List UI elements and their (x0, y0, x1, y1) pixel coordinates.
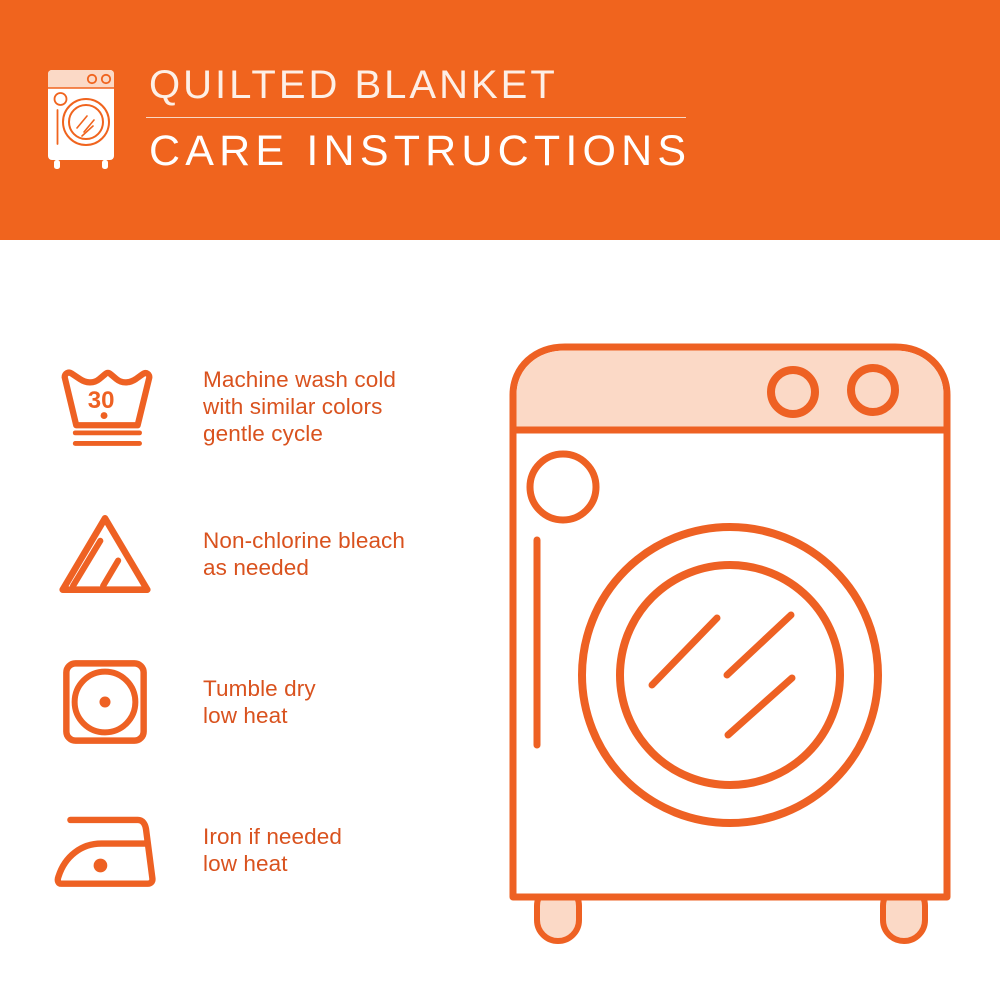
list-item: Tumble dry low heat (45, 628, 475, 776)
header-title-block: QUILTED BLANKET CARE INSTRUCTIONS (146, 62, 691, 175)
page-title: QUILTED BLANKET (146, 62, 691, 108)
non-chlorine-bleach-triangle-icon (45, 507, 165, 601)
list-item-label: Non-chlorine bleach as needed (165, 527, 405, 581)
list-item: 30 Machine wash cold with similar colors… (45, 332, 475, 480)
list-item-label: Iron if needed low heat (165, 823, 342, 877)
wash-temperature-label: 30 (88, 387, 115, 414)
care-instruction-list: 30 Machine wash cold with similar colors… (45, 332, 475, 924)
control-panel (517, 351, 944, 431)
iron-low-heat-icon (45, 809, 165, 891)
washing-machine-illustration (495, 335, 965, 955)
header-content: QUILTED BLANKET CARE INSTRUCTIONS (40, 62, 691, 175)
tumble-dry-low-heat-icon (45, 656, 165, 748)
list-item-label: Machine wash cold with similar colors ge… (165, 366, 396, 447)
page-body: 30 Machine wash cold with similar colors… (0, 240, 1000, 1000)
page-header: QUILTED BLANKET CARE INSTRUCTIONS (0, 0, 1000, 240)
list-item: Iron if needed low heat (45, 776, 475, 924)
title-divider (146, 117, 686, 118)
list-item: Non-chlorine bleach as needed (45, 480, 475, 628)
page-subtitle: CARE INSTRUCTIONS (146, 127, 691, 175)
machine-wash-30-tub-icon: 30 (45, 358, 165, 454)
list-item-label: Tumble dry low heat (165, 675, 316, 729)
washing-machine-icon (40, 64, 132, 172)
